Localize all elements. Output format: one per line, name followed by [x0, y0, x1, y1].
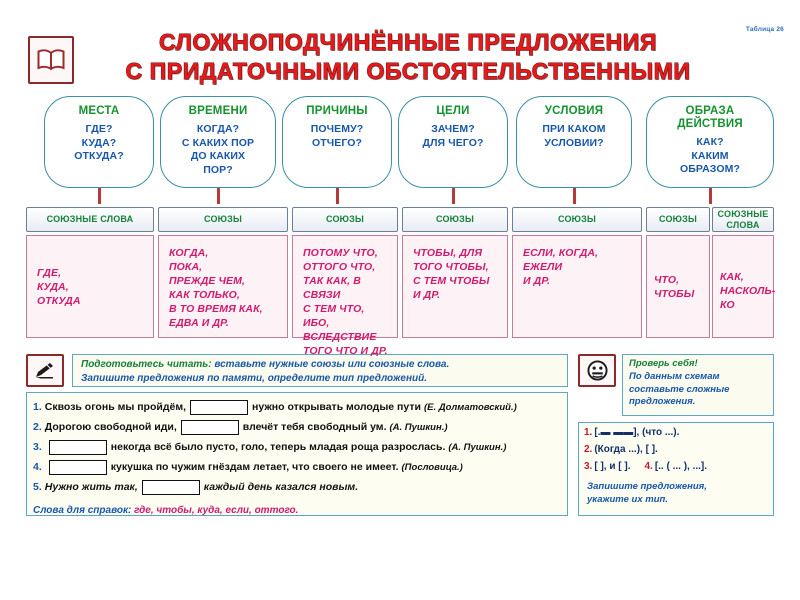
exercise-item: 2.Дорогою свободной иди,влечёт тебя своб… [33, 417, 561, 437]
fill-in-blank[interactable] [190, 400, 248, 415]
conjunction-type-label: СОЮЗЫ [558, 214, 596, 225]
task-line-1: Подготовьтесь читать: вставьте нужные со… [81, 358, 559, 372]
exercise-number: 3. [33, 441, 42, 453]
check-line-2: По данным схемам [629, 371, 767, 384]
bubble-title: УСЛОВИЯ [545, 105, 603, 118]
exercise-number: 1. [33, 401, 42, 413]
conjunction-type-header: СОЮЗЫ [402, 207, 508, 232]
check-line-3: составьте сложные [629, 384, 767, 397]
page-title: СЛОЖНОПОДЧИНЁННЫЕ ПРЕДЛОЖЕНИЯ С ПРИДАТОЧ… [88, 28, 728, 86]
scheme-text: [.▬ ▬▬], (что ...). [594, 427, 679, 438]
exercise-source: (А. Пушкин.) [389, 422, 447, 433]
fill-in-blank[interactable] [142, 480, 200, 495]
bubble-stem [336, 188, 339, 204]
conjunction-type-label: СОЮЗНЫЕСЛОВА [718, 209, 769, 230]
schema-note: Запишите предложения,укажите их тип. [584, 481, 768, 506]
conjunction-type-label: СОЮЗЫ [659, 214, 697, 225]
conjunction-words: КОГДА,ПОКА,ПРЕЖДЕ ЧЕМ,КАК ТОЛЬКО,В ТО ВР… [169, 246, 279, 330]
conjunction-content-cell: ГДЕ,КУДА,ОТКУДА [26, 235, 154, 338]
exercise-text-after: нужно открывать молодые пути [252, 401, 421, 413]
scheme-number: 2. [584, 444, 592, 455]
conjunction-type-header: СОЮЗЫ [292, 207, 398, 232]
exercise-text-before: Нужно жить так, [45, 481, 138, 493]
bubble-questions: ГДЕ?КУДА?ОТКУДА? [74, 123, 123, 164]
fill-in-blank[interactable] [49, 440, 107, 455]
bubble-title: МЕСТА [79, 105, 120, 118]
conjunction-content-cell: ЧТОБЫ, ДЛЯТОГО ЧТОБЫ,С ТЕМ ЧТОБЫИ ДР. [402, 235, 508, 338]
bubble-stem [217, 188, 220, 204]
bubble-stem [573, 188, 576, 204]
conjunction-type-header: СОЮЗНЫЕСЛОВА [712, 207, 774, 232]
task-line-1-emphasis: Подготовьтесь читать: [81, 359, 212, 370]
scheme-number: 3. [584, 461, 592, 472]
reference-words-label: Слова для справок: [33, 505, 131, 516]
bubble-title: ВРЕМЕНИ [189, 105, 248, 118]
title-line-1: СЛОЖНОПОДЧИНЁННЫЕ ПРЕДЛОЖЕНИЯ [88, 28, 728, 57]
scheme-row: 2.(Когда ...), [ ]. [584, 444, 768, 461]
schema-list: 1.[.▬ ▬▬], (что ...).2.(Когда ...), [ ].… [578, 422, 774, 516]
exercise-source: (Пословица.) [402, 462, 463, 473]
conjunction-type-header: СОЮЗЫ [646, 207, 710, 232]
bubble-questions: ПОЧЕМУ?ОТЧЕГО? [311, 123, 364, 150]
exercise-source: (Е. Долматовский.) [424, 402, 517, 413]
scheme-text: (Когда ...), [ ]. [594, 444, 657, 455]
bubble-questions: КОГДА?С КАКИХ ПОРДО КАКИХПОР? [182, 123, 254, 177]
fill-in-blank[interactable] [49, 460, 107, 475]
category-bubble: УСЛОВИЯПРИ КАКОМУСЛОВИИ? [516, 96, 632, 188]
category-bubble: ОБРАЗАДЕЙСТВИЯКАК?КАКИМОБРАЗОМ? [646, 96, 774, 188]
exercise-item: 4.кукушка по чужим гнёздам летает, что с… [33, 457, 561, 477]
bubble-questions: КАК?КАКИМОБРАЗОМ? [680, 136, 740, 177]
task-line-2: Запишите предложения по памяти, определи… [81, 372, 559, 386]
scheme-text: [.. ( ... ), ...]. [655, 461, 707, 472]
fill-in-blank[interactable] [181, 420, 239, 435]
exercise-text-after: влечёт тебя свободный ум. [243, 421, 387, 433]
schema-note-line-1: Запишите предложения, [587, 481, 768, 494]
bubble-title: ЦЕЛИ [436, 105, 469, 118]
task-instruction-banner: Подготовьтесь читать: вставьте нужные со… [72, 354, 568, 387]
scheme-number: 1. [584, 427, 592, 438]
check-line-4: предложения. [629, 396, 767, 409]
schema-note-line-2: укажите их тип. [587, 494, 768, 507]
poster-root: Таблица 26 СЛОЖНОПОДЧИНЁННЫЕ ПРЕДЛОЖЕНИЯ… [0, 0, 800, 600]
exercise-text-after: некогда всё было пусто, голо, теперь мла… [111, 441, 446, 453]
exercise-source: (А. Пушкин.) [448, 442, 506, 453]
conjunction-words: КАК,НАСКОЛЬ-КО [720, 270, 769, 312]
conjunction-words: ЧТОБЫ, ДЛЯТОГО ЧТОБЫ,С ТЕМ ЧТОБЫИ ДР. [413, 246, 499, 302]
conjunction-content-cell: ПОТОМУ ЧТО,ОТТОГО ЧТО,ТАК КАК, В СВЯЗИС … [292, 235, 398, 338]
category-bubble: ВРЕМЕНИКОГДА?С КАКИХ ПОРДО КАКИХПОР? [160, 96, 276, 188]
conjunction-type-label: СОЮЗЫ [326, 214, 364, 225]
conjunction-type-label: СОЮЗЫ [204, 214, 242, 225]
exercise-number: 2. [33, 421, 42, 433]
reference-words-values: где, чтобы, куда, если, оттого. [131, 505, 298, 516]
exercise-text-before: Дорогою свободной иди, [45, 421, 177, 433]
open-book-icon [28, 36, 74, 84]
pen-icon [26, 354, 64, 387]
conjunction-words: ЧТО,ЧТОБЫ [654, 273, 694, 301]
conjunction-type-header: СОЮЗНЫЕ СЛОВА [26, 207, 154, 232]
conjunction-content-cell: КОГДА,ПОКА,ПРЕЖДЕ ЧЕМ,КАК ТОЛЬКО,В ТО ВР… [158, 235, 288, 338]
exercise-number: 5. [33, 481, 42, 493]
category-bubbles: МЕСТАГДЕ?КУДА?ОТКУДА?ВРЕМЕНИКОГДА?С КАКИ… [0, 96, 800, 196]
conjunction-content-cell: КАК,НАСКОЛЬ-КО [712, 235, 774, 338]
conjunction-type-header: СОЮЗЫ [512, 207, 642, 232]
exercise-list: 1.Сквозь огонь мы пройдём,нужно открыват… [26, 392, 568, 516]
category-bubble: ЦЕЛИЗАЧЕМ?ДЛЯ ЧЕГО? [398, 96, 508, 188]
conjunction-words: ПОТОМУ ЧТО,ОТТОГО ЧТО,ТАК КАК, В СВЯЗИС … [303, 246, 389, 358]
category-bubble: ПРИЧИНЫПОЧЕМУ?ОТЧЕГО? [282, 96, 392, 188]
category-bubble: МЕСТАГДЕ?КУДА?ОТКУДА? [44, 96, 154, 188]
exercise-number: 4. [33, 461, 42, 473]
bubble-stem [452, 188, 455, 204]
check-title: Проверь себя! [629, 358, 767, 371]
conjunction-type-header: СОЮЗЫ [158, 207, 288, 232]
exercise-item: 1.Сквозь огонь мы пройдём,нужно открыват… [33, 397, 561, 417]
bubble-questions: ПРИ КАКОМУСЛОВИИ? [542, 123, 605, 150]
reference-words-row: Слова для справок: где, чтобы, куда, есл… [33, 500, 561, 518]
bubble-stem [98, 188, 101, 204]
bubble-title: ПРИЧИНЫ [306, 105, 368, 118]
exercise-text-before: Сквозь огонь мы пройдём, [45, 401, 186, 413]
conjunction-type-label: СОЮЗЫ [436, 214, 474, 225]
bubble-questions: ЗАЧЕМ?ДЛЯ ЧЕГО? [423, 123, 484, 150]
task-line-1-rest: вставьте нужные союзы или союзные слова. [212, 359, 450, 370]
exercise-text-after: каждый день казался новым. [204, 481, 358, 493]
smiley-icon [578, 354, 616, 387]
scheme-text: [ ], и [ ]. [594, 461, 630, 472]
conjunction-content-cell: ЧТО,ЧТОБЫ [646, 235, 710, 338]
exercise-text-after: кукушка по чужим гнёздам летает, что сво… [111, 461, 399, 473]
exercise-item: 5.Нужно жить так,каждый день казался нов… [33, 477, 561, 497]
scheme-row: 3.[ ], и [ ].4.[.. ( ... ), ...]. [584, 461, 768, 478]
bubble-title: ОБРАЗАДЕЙСТВИЯ [677, 105, 743, 131]
conjunction-content-cell: ЕСЛИ, КОГДА,ЕЖЕЛИИ ДР. [512, 235, 642, 338]
conjunction-words: ГДЕ,КУДА,ОТКУДА [37, 266, 81, 308]
conjunction-words: ЕСЛИ, КОГДА,ЕЖЕЛИИ ДР. [523, 246, 633, 288]
scheme-row: 1.[.▬ ▬▬], (что ...). [584, 427, 768, 444]
bubble-stem [709, 188, 712, 204]
exercise-item: 3.некогда всё было пусто, голо, теперь м… [33, 437, 561, 457]
scheme-number: 4. [644, 461, 652, 472]
poster-header: СЛОЖНОПОДЧИНЁННЫЕ ПРЕДЛОЖЕНИЯ С ПРИДАТОЧ… [0, 28, 800, 90]
title-line-2: С ПРИДАТОЧНЫМИ ОБСТОЯТЕЛЬСТВЕННЫМИ [88, 57, 728, 86]
check-yourself-banner: Проверь себя! По данным схемам составьте… [622, 354, 774, 416]
conjunction-type-label: СОЮЗНЫЕ СЛОВА [47, 214, 134, 225]
